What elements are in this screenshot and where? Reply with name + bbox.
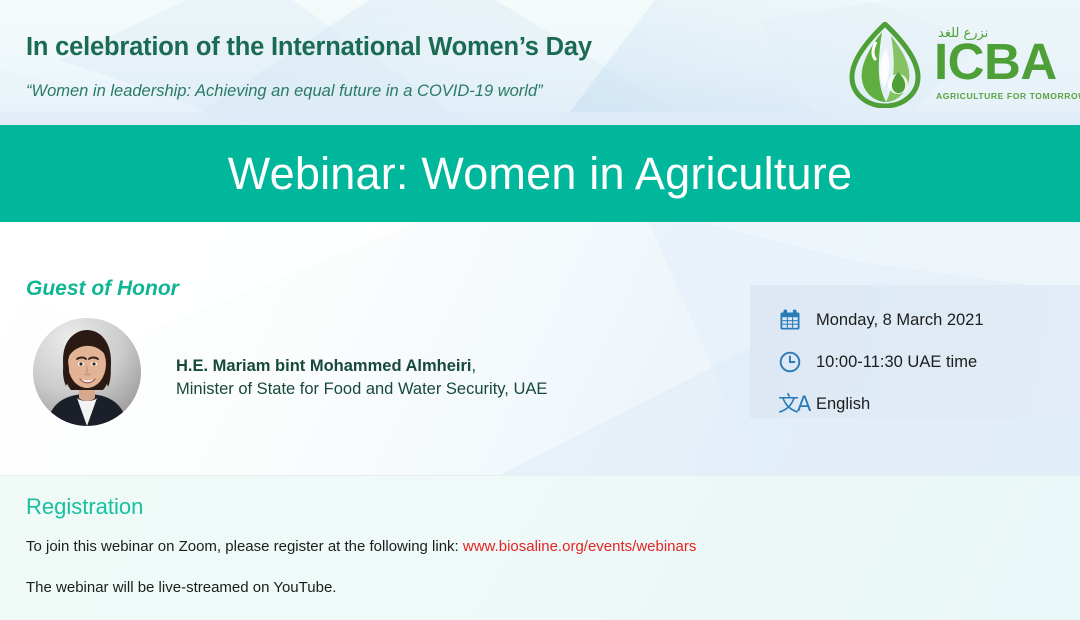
portrait-photo — [33, 318, 141, 426]
clock-icon — [778, 350, 812, 374]
registration-title: Registration — [26, 494, 143, 520]
translate-icon: 文A — [778, 394, 812, 415]
speaker-name-text: H.E. Mariam bint Mohammed Almheiri — [176, 357, 472, 375]
poster-header: In celebration of the International Wome… — [0, 0, 1080, 125]
registration-instruction: To join this webinar on Zoom, please reg… — [26, 538, 696, 555]
page-title: In celebration of the International Wome… — [26, 33, 592, 62]
logo-wordmark: ICBA — [934, 36, 1057, 87]
speaker-role: Minister of State for Food and Water Sec… — [176, 380, 547, 399]
calendar-icon — [778, 308, 812, 332]
livestream-note: The webinar will be live-streamed on You… — [26, 579, 336, 596]
leaf-droplet-icon — [846, 22, 924, 108]
event-date-text: Monday, 8 March 2021 — [812, 311, 984, 330]
event-time-row: 10:00-11:30 UAE time — [778, 341, 1080, 383]
registration-section: Registration To join this webinar on Zoo… — [0, 475, 1080, 620]
avatar — [33, 318, 141, 426]
event-language-row: 文A English — [778, 383, 1080, 425]
logo-tagline: AGRICULTURE FOR TOMORROW — [936, 91, 1080, 101]
registration-link[interactable]: www.biosaline.org/events/webinars — [463, 538, 696, 555]
event-details-panel: Monday, 8 March 2021 10:00-11:30 UAE tim… — [750, 285, 1080, 418]
banner: Webinar: Women in Agriculture — [0, 125, 1080, 222]
event-language-text: English — [812, 395, 870, 414]
banner-title: Webinar: Women in Agriculture — [228, 148, 852, 200]
speaker-name-comma: , — [472, 357, 477, 375]
speaker-name: H.E. Mariam bint Mohammed Almheiri, — [176, 357, 476, 376]
event-time-text: 10:00-11:30 UAE time — [812, 353, 977, 372]
registration-instruction-text: To join this webinar on Zoom, please reg… — [26, 538, 463, 555]
guest-of-honor-label: Guest of Honor — [26, 277, 179, 301]
event-date-row: Monday, 8 March 2021 — [778, 299, 1080, 341]
webinar-poster: In celebration of the International Wome… — [0, 0, 1080, 620]
translate-glyph: 文A — [778, 394, 809, 415]
page-subtitle: “Women in leadership: Achieving an equal… — [26, 82, 543, 101]
icba-logo: نزرع للغد ICBA AGRICULTURE FOR TOMORROW — [846, 22, 1056, 108]
